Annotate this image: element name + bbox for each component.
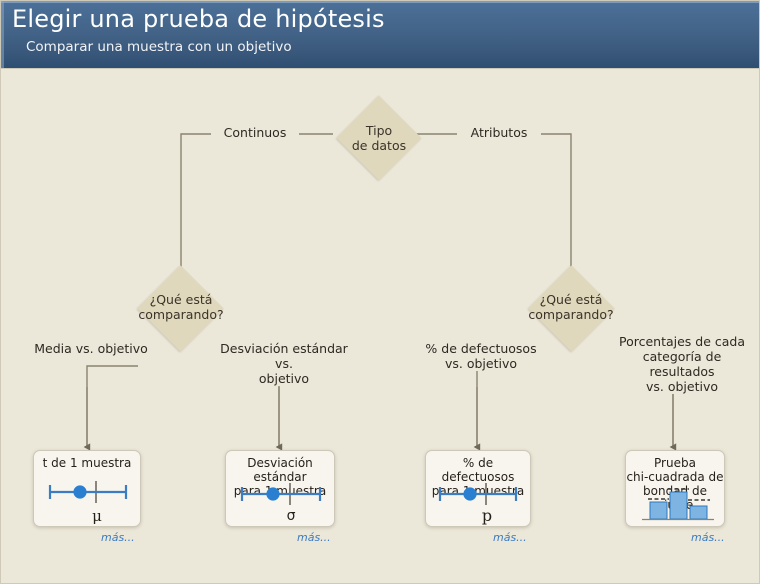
bar-chart-icon — [626, 485, 724, 523]
result-box-chi-cuadrada-bondad-ajuste[interactable]: Prueba chi-cuadrada de bondad de ajuste — [625, 450, 725, 527]
edge-label-continuos: Continuos — [211, 125, 299, 140]
node-decision-right-label: ¿Qué está comparando? — [521, 292, 621, 322]
edge-label-desviacion-objetivo: Desviación estándar vs. objetivo — [213, 341, 355, 386]
more-link-chi-cuadrada-bondad-ajuste[interactable]: más... — [691, 531, 725, 544]
page-title: Elegir una prueba de hipótesis — [12, 5, 385, 33]
page-subtitle: Comparar una muestra con un objetivo — [26, 39, 292, 55]
edge-label-pct-defectuosos-objetivo: % de defectuosos vs. objetivo — [415, 341, 547, 371]
result-box-desviacion-estandar-1-muestra[interactable]: Desviación estándar para 1 muestra σ — [225, 450, 335, 527]
node-tipo-de-datos-label: Tipo de datos — [334, 123, 424, 153]
result-title: t de 1 muestra — [34, 456, 140, 470]
more-link-pct-defectuosos-1-muestra[interactable]: más... — [493, 531, 527, 544]
edge-label-media-objetivo: Media vs. objetivo — [21, 341, 161, 356]
result-box-t-1-muestra[interactable]: t de 1 muestra μ — [33, 450, 141, 527]
edge-root-to-left — [181, 134, 333, 267]
edge-root-to-right — [413, 134, 571, 267]
result-symbol: p — [474, 506, 500, 525]
edge-right-to-defect — [477, 366, 529, 446]
more-link-t-1-muestra[interactable]: más... — [101, 531, 135, 544]
edge-label-porcentajes-categoria-objetivo: Porcentajes de cada categoría de resulta… — [605, 334, 759, 394]
page-header: Elegir una prueba de hipótesis Comparar … — [1, 1, 760, 69]
hypothesis-test-chooser-page: Elegir una prueba de hipótesis Comparar … — [0, 0, 760, 584]
edge-label-atributos: Atributos — [457, 125, 541, 140]
result-symbol: σ — [278, 508, 304, 524]
more-link-desviacion-estandar-1-muestra[interactable]: más... — [297, 531, 331, 544]
flowchart-canvas: Tipo de datos Continuos Atributos ¿Qué e… — [1, 69, 760, 584]
result-symbol: μ — [84, 507, 110, 525]
node-decision-left-label: ¿Qué está comparando? — [131, 292, 231, 322]
result-box-pct-defectuosos-1-muestra[interactable]: % de defectuosos para 1 muestra p — [425, 450, 531, 527]
edge-left-to-mean — [87, 366, 138, 446]
